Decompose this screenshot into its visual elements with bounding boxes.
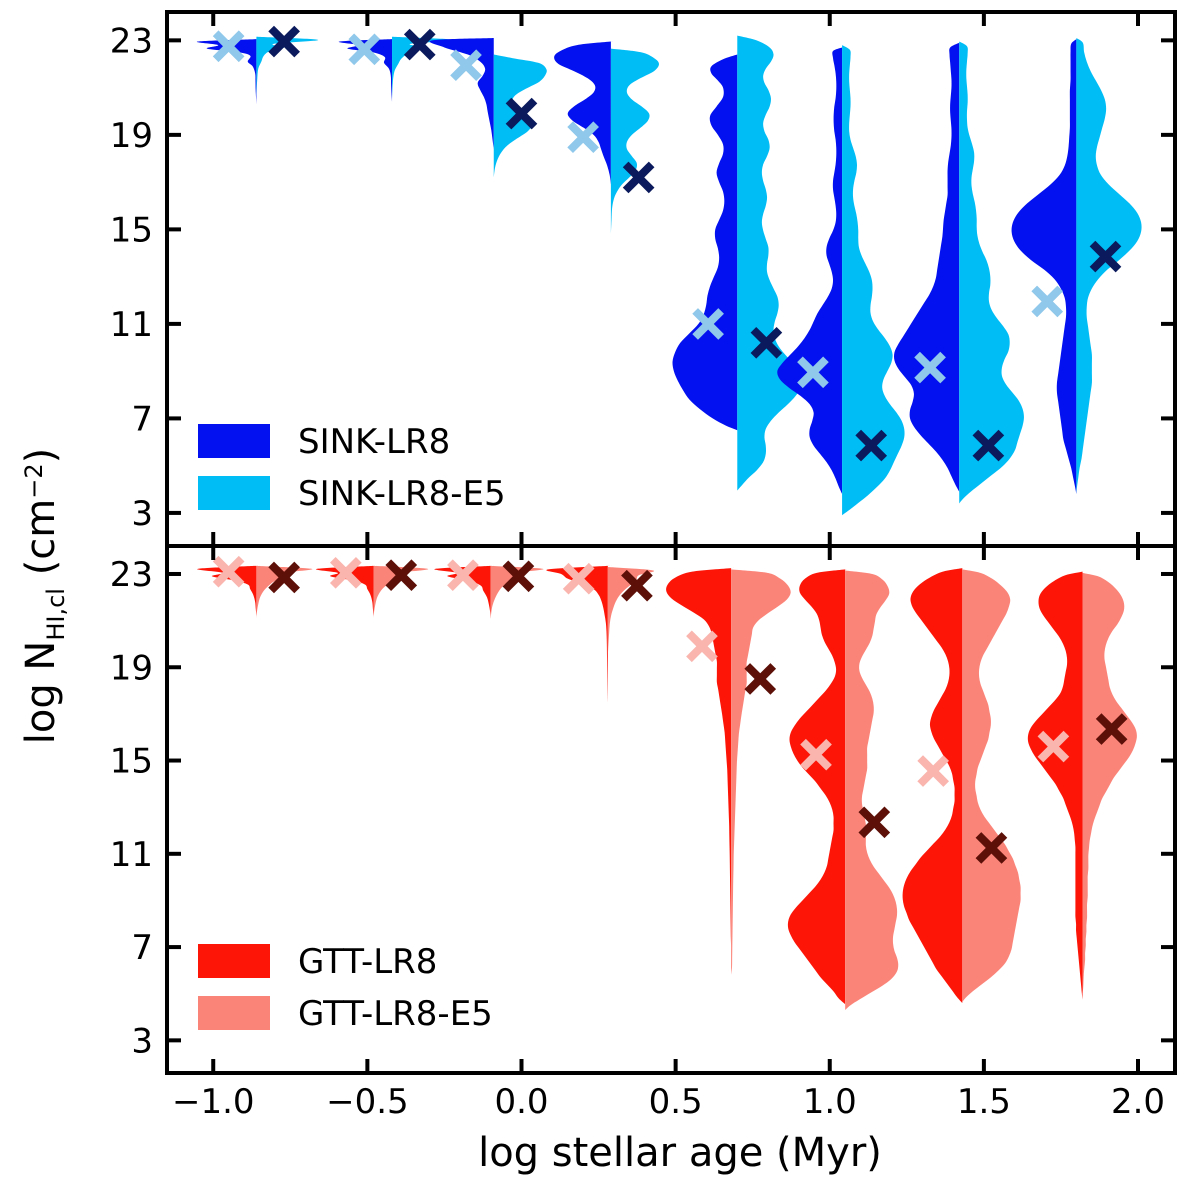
x-tick-label: 1.0 xyxy=(803,1082,857,1122)
legend-swatch xyxy=(198,996,270,1030)
legend-label: GTT-LR8-E5 xyxy=(298,994,493,1034)
y-tick-label: 15 xyxy=(110,210,153,250)
y-axis-label-post: ) xyxy=(18,448,64,464)
y-tick-label: 19 xyxy=(110,648,153,688)
y-tick-label: 3 xyxy=(131,494,153,534)
x-tick-label: 1.5 xyxy=(957,1082,1011,1122)
plot-svg: 37111519233711151923−1.0−0.50.00.51.01.5… xyxy=(0,0,1200,1186)
legend-label: SINK-LR8-E5 xyxy=(298,474,506,514)
x-axis-label: log stellar age (Myr) xyxy=(478,1130,882,1176)
y-tick-label: 7 xyxy=(131,399,153,439)
y-tick-label: 11 xyxy=(110,305,153,345)
y-tick-label: 3 xyxy=(131,1021,153,1061)
x-axis-label-group: log stellar age (Myr) xyxy=(478,1130,882,1176)
legend-swatch xyxy=(198,944,270,978)
legend-swatch xyxy=(198,424,270,458)
y-tick-label: 7 xyxy=(131,928,153,968)
y-axis-label-mid: (cm xyxy=(18,499,64,588)
x-tick-label: −1.0 xyxy=(172,1082,255,1122)
x-tick-label: 0.0 xyxy=(494,1082,548,1122)
y-tick-label: 15 xyxy=(110,742,153,782)
y-axis-label-superscript: −2 xyxy=(20,463,48,498)
legend-label: GTT-LR8 xyxy=(298,942,437,982)
y-tick-label: 11 xyxy=(110,835,153,875)
legend-label: SINK-LR8 xyxy=(298,422,450,462)
y-axis-label-pre: log N xyxy=(18,641,64,745)
y-tick-label: 23 xyxy=(110,555,153,595)
x-tick-label: 2.0 xyxy=(1111,1082,1165,1122)
y-axis-label-subscript: HI,cl xyxy=(42,588,70,641)
y-tick-label: 23 xyxy=(110,21,153,61)
y-tick-label: 19 xyxy=(110,116,153,156)
x-tick-label: 0.5 xyxy=(649,1082,703,1122)
violin-figure: 37111519233711151923−1.0−0.50.00.51.01.5… xyxy=(0,0,1200,1186)
legend-swatch xyxy=(198,476,270,510)
x-tick-label: −0.5 xyxy=(326,1082,409,1122)
